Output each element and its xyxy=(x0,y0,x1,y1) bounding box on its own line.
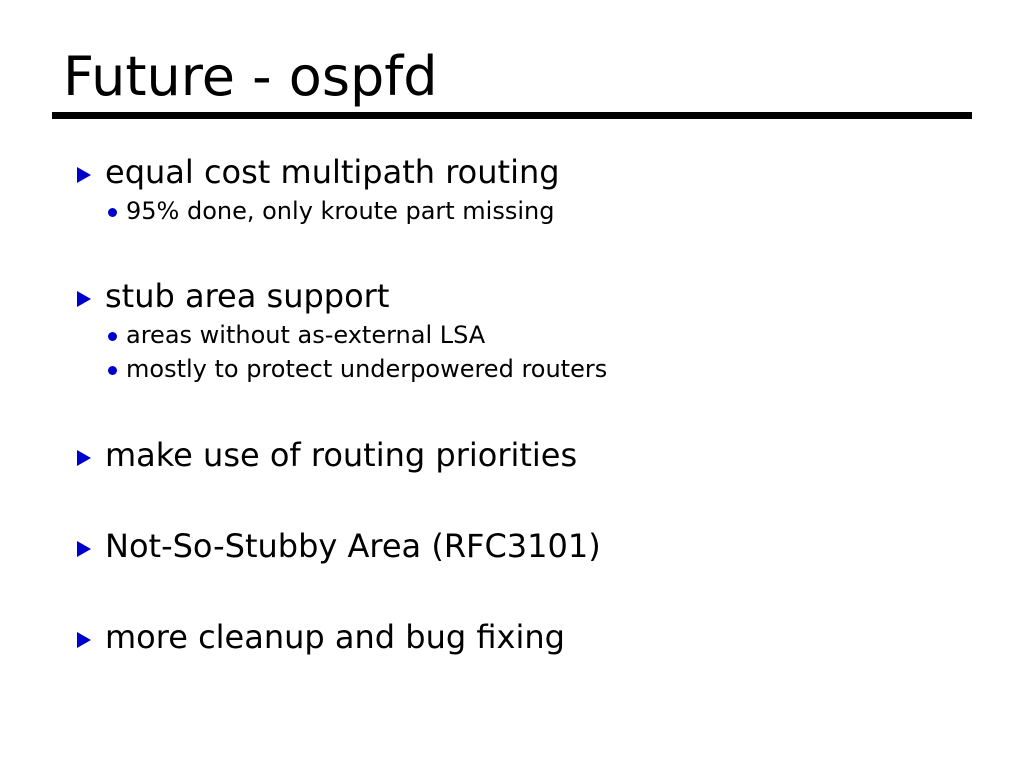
triangle-right-icon xyxy=(77,291,91,307)
triangle-right-icon xyxy=(77,167,91,183)
bullet-level2: mostly to protect underpowered routers xyxy=(0,352,1024,386)
bullet-level2: areas without as-external LSA xyxy=(0,318,1024,352)
bullet-level1: make use of routing priorities xyxy=(0,433,1024,477)
bullet-group-4: Not-So-Stubby Area (RFC3101) xyxy=(0,524,1024,568)
bullet-level1: stub area support xyxy=(0,274,1024,318)
bullet-level1-label: Not-So-Stubby Area (RFC3101) xyxy=(105,527,601,565)
spacer xyxy=(0,568,1024,615)
dot-icon xyxy=(108,332,117,341)
bullet-group-2: stub area support areas without as-exter… xyxy=(0,274,1024,386)
triangle-right-icon xyxy=(77,450,91,466)
title-block: Future - ospfd xyxy=(52,48,972,106)
slide-body: equal cost multipath routing 95% done, o… xyxy=(0,150,1024,659)
bullet-level1-label: more cleanup and bug fixing xyxy=(105,618,565,656)
triangle-right-icon xyxy=(77,541,91,557)
triangle-right-icon xyxy=(77,632,91,648)
bullet-group-3: make use of routing priorities xyxy=(0,433,1024,477)
spacer xyxy=(0,386,1024,433)
bullet-level2-label: areas without as-external LSA xyxy=(126,321,485,349)
spacer xyxy=(0,477,1024,524)
title-underline-rule xyxy=(52,112,972,119)
bullet-level2-label: mostly to protect underpowered routers xyxy=(126,355,607,383)
bullet-level1: more cleanup and bug fixing xyxy=(0,615,1024,659)
bullet-level1-label: equal cost multipath routing xyxy=(105,153,560,191)
bullet-level2: 95% done, only kroute part missing xyxy=(0,194,1024,228)
bullet-level1: equal cost multipath routing xyxy=(0,150,1024,194)
bullet-level1-label: make use of routing priorities xyxy=(105,436,577,474)
bullet-level1: Not-So-Stubby Area (RFC3101) xyxy=(0,524,1024,568)
dot-icon xyxy=(108,208,117,217)
bullet-group-1: equal cost multipath routing 95% done, o… xyxy=(0,150,1024,228)
bullet-group-5: more cleanup and bug fixing xyxy=(0,615,1024,659)
slide-canvas: Future - ospfd equal cost multipath rout… xyxy=(0,0,1024,768)
spacer xyxy=(0,228,1024,274)
page-title: Future - ospfd xyxy=(52,48,972,106)
dot-icon xyxy=(108,366,117,375)
bullet-level1-label: stub area support xyxy=(105,277,389,315)
bullet-level2-label: 95% done, only kroute part missing xyxy=(126,197,554,225)
